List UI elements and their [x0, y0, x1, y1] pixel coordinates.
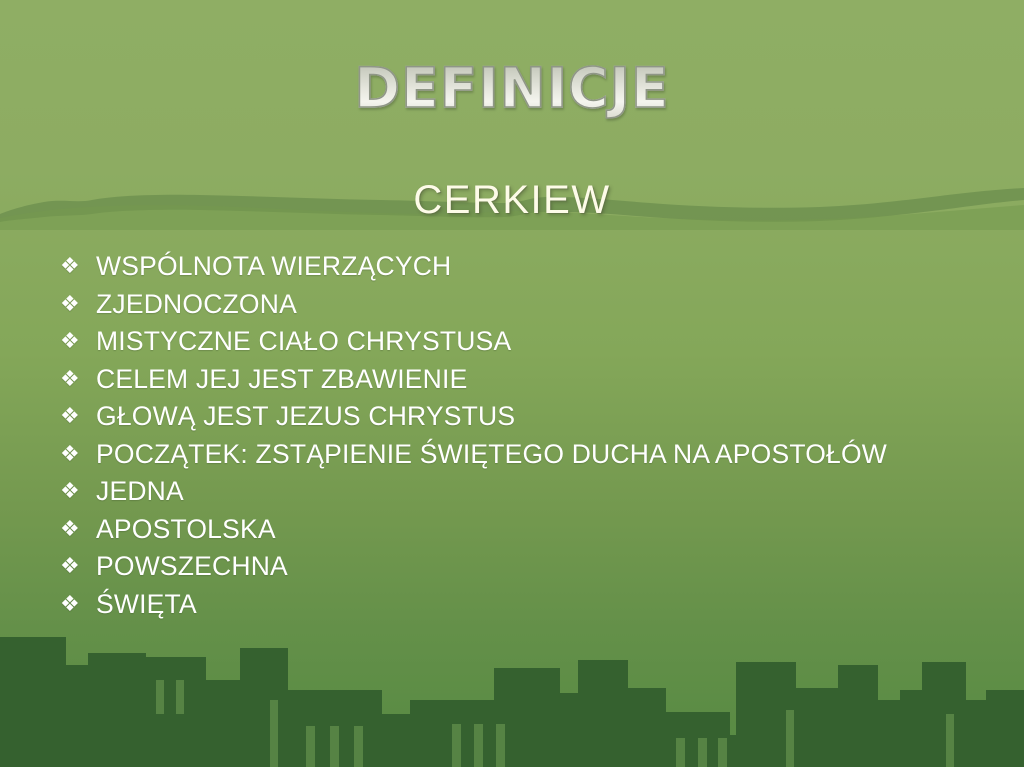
- four-petal-diamond-bullet-icon: ❖: [60, 473, 86, 511]
- title-container: DEFINICJE: [0, 60, 1024, 118]
- list-item-label: JEDNA: [96, 473, 988, 511]
- four-petal-diamond-bullet-icon: ❖: [60, 248, 86, 286]
- list-item: ❖APOSTOLSKA: [58, 511, 988, 549]
- subtitle: CERKIEW: [413, 178, 610, 223]
- list-item: ❖CELEM JEJ JEST ZBAWIENIE: [58, 361, 988, 399]
- list-item-label: GŁOWĄ JEST JEZUS CHRYSTUS: [96, 398, 988, 436]
- list-item: ❖ŚWIĘTA: [58, 586, 988, 624]
- list-item-label: MISTYCZNE CIAŁO CHRYSTUSA: [96, 323, 988, 361]
- four-petal-diamond-bullet-icon: ❖: [60, 286, 86, 324]
- list-item: ❖POWSZECHNA: [58, 548, 988, 586]
- list-item-label: ŚWIĘTA: [96, 586, 988, 624]
- list-item: ❖WSPÓLNOTA WIERZĄCYCH: [58, 248, 988, 286]
- list-item: ❖POCZĄTEK: ZSTĄPIENIE ŚWIĘTEGO DUCHA NA …: [58, 436, 988, 474]
- list-item: ❖GŁOWĄ JEST JEZUS CHRYSTUS: [58, 398, 988, 436]
- subtitle-container: CERKIEW: [0, 178, 1024, 223]
- page-title: DEFINICJE: [354, 60, 669, 118]
- definition-bullet-list: ❖WSPÓLNOTA WIERZĄCYCH❖ZJEDNOCZONA❖MISTYC…: [58, 248, 988, 623]
- four-petal-diamond-bullet-icon: ❖: [60, 548, 86, 586]
- list-item-label: APOSTOLSKA: [96, 511, 988, 549]
- list-item-label: WSPÓLNOTA WIERZĄCYCH: [96, 248, 988, 286]
- four-petal-diamond-bullet-icon: ❖: [60, 586, 86, 624]
- list-item-label: POWSZECHNA: [96, 548, 988, 586]
- four-petal-diamond-bullet-icon: ❖: [60, 436, 86, 474]
- four-petal-diamond-bullet-icon: ❖: [60, 511, 86, 549]
- list-item-label: ZJEDNOCZONA: [96, 286, 988, 324]
- list-item: ❖JEDNA: [58, 473, 988, 511]
- list-item: ❖MISTYCZNE CIAŁO CHRYSTUSA: [58, 323, 988, 361]
- list-item-label: POCZĄTEK: ZSTĄPIENIE ŚWIĘTEGO DUCHA NA A…: [96, 436, 988, 474]
- four-petal-diamond-bullet-icon: ❖: [60, 398, 86, 436]
- list-item: ❖ZJEDNOCZONA: [58, 286, 988, 324]
- four-petal-diamond-bullet-icon: ❖: [60, 323, 86, 361]
- presentation-slide: DEFINICJE CERKIEW ❖WSPÓLNOTA WIERZĄCYCH❖…: [0, 0, 1024, 767]
- four-petal-diamond-bullet-icon: ❖: [60, 361, 86, 399]
- list-item-label: CELEM JEJ JEST ZBAWIENIE: [96, 361, 988, 399]
